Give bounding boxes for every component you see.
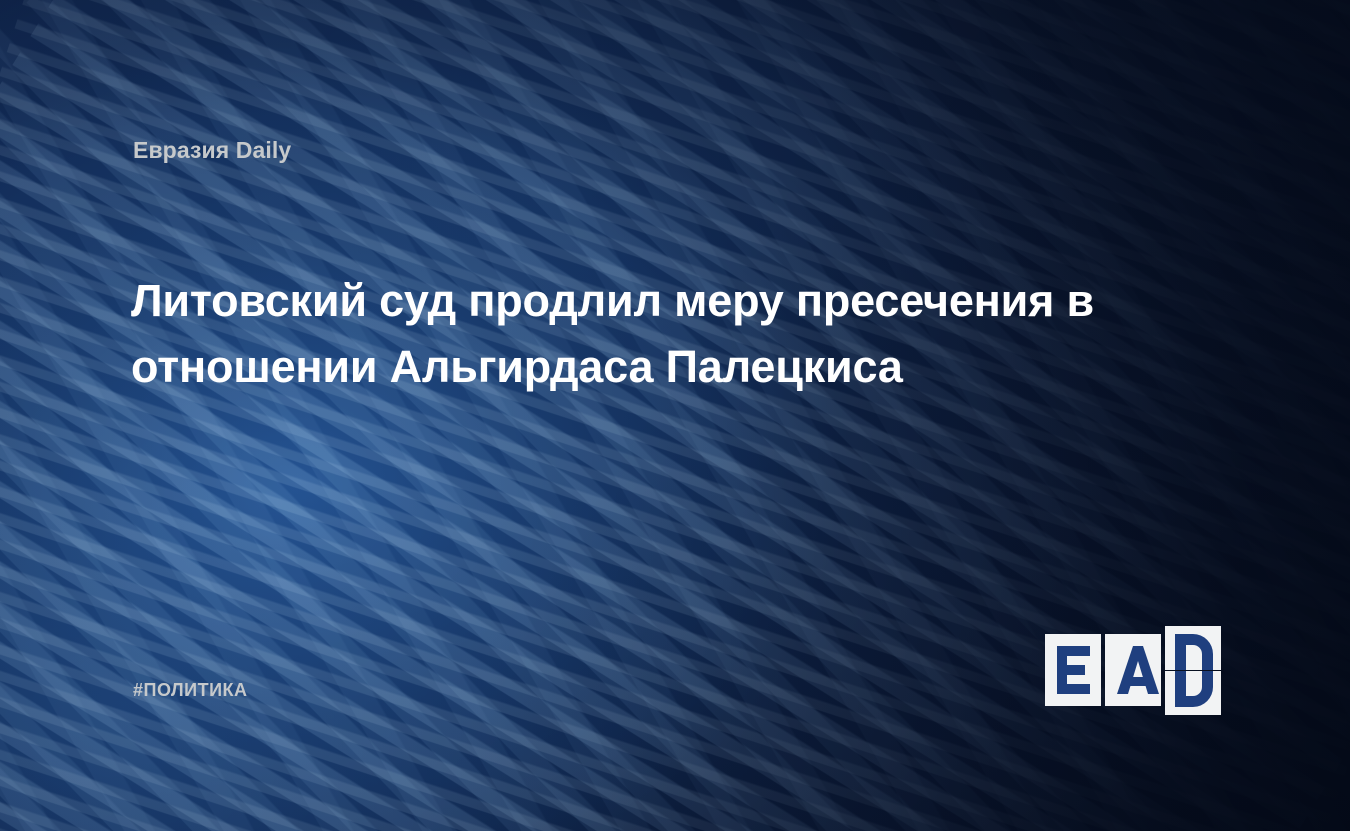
- card-content: Евразия Daily Литовский суд продлил меру…: [0, 0, 1350, 831]
- ead-logo-mark: [1045, 625, 1231, 715]
- social-share-card: Евразия Daily Литовский суд продлил меру…: [0, 0, 1350, 831]
- brand-name: Евразия Daily: [133, 137, 291, 164]
- category-tag: #ПОЛИТИКА: [133, 680, 248, 701]
- logo-letter-d: [1175, 634, 1213, 707]
- ead-logo: [1045, 625, 1231, 715]
- page-title: Литовский суд продлил меру пресечения в …: [131, 268, 1161, 399]
